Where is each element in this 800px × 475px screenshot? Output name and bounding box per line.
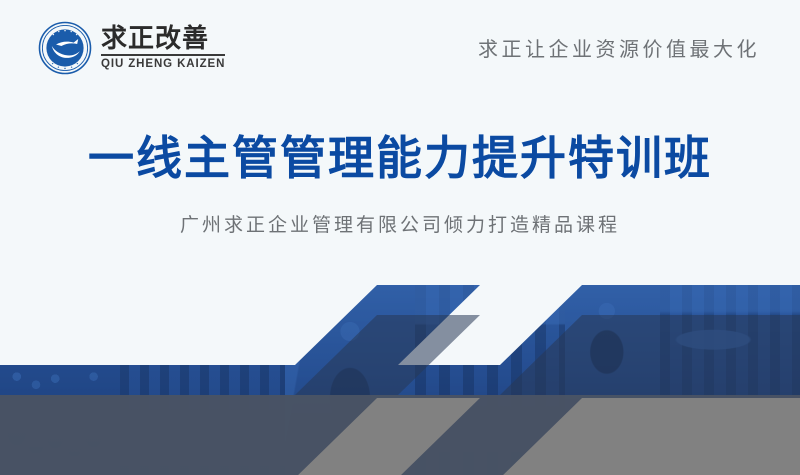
gray-footer-band (0, 395, 800, 475)
brand-divider-rule (101, 54, 225, 56)
header-slogan: 求正让企业资源价值最大化 (478, 33, 760, 62)
brand-text-block: 求正改善 QIU ZHENG KAIZEN (101, 25, 225, 71)
course-banner: 求正改善 QIU ZHENG KAIZEN 求正让企业资源价值最大化 一线主管管… (0, 0, 800, 475)
hero-title-block: 一线主管管理能力提升特训班 广州求正企业管理有限公司倾力打造精品课程 (0, 130, 800, 237)
course-sub-title: 广州求正企业管理有限公司倾力打造精品课程 (0, 210, 800, 237)
qiuzheng-circular-emblem-logo (38, 21, 92, 75)
course-main-title: 一线主管管理能力提升特训班 (0, 130, 800, 188)
banner-header: 求正改善 QIU ZHENG KAIZEN 求正让企业资源价值最大化 (0, 0, 800, 95)
brand-lockup: 求正改善 QIU ZHENG KAIZEN (38, 21, 225, 75)
brand-name-en: QIU ZHENG KAIZEN (101, 58, 225, 70)
brand-name-cn: 求正改善 (101, 25, 225, 52)
